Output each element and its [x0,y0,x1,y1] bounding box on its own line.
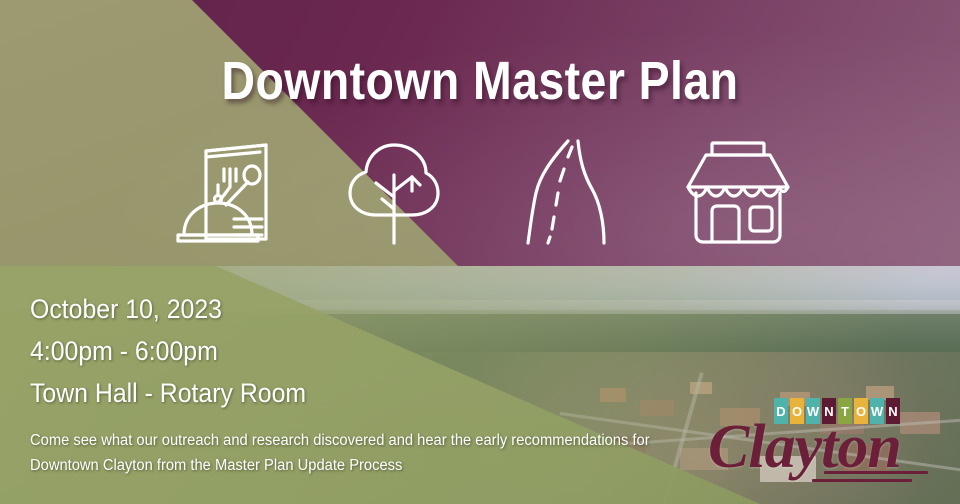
storefront-icon [678,128,798,254]
event-flyer: Downtown Master Plan [0,0,960,504]
icon-row [0,126,960,256]
logo-underline-1 [824,471,928,474]
event-time: 4:00pm - 6:00pm [30,330,508,372]
event-date: October 10, 2023 [30,288,508,330]
road-icon [506,128,626,254]
event-details: October 10, 2023 4:00pm - 6:00pm Town Ha… [30,288,550,414]
tree-icon [334,128,454,254]
event-description: Come see what our outreach and research … [30,428,676,478]
restaurant-menu-icon [162,128,282,254]
downtown-clayton-logo: D O W N T O W N Clayton [708,390,944,496]
page-title: Downtown Master Plan [67,52,893,110]
event-location: Town Hall - Rotary Room [30,372,508,414]
logo-underline-2 [812,479,912,482]
